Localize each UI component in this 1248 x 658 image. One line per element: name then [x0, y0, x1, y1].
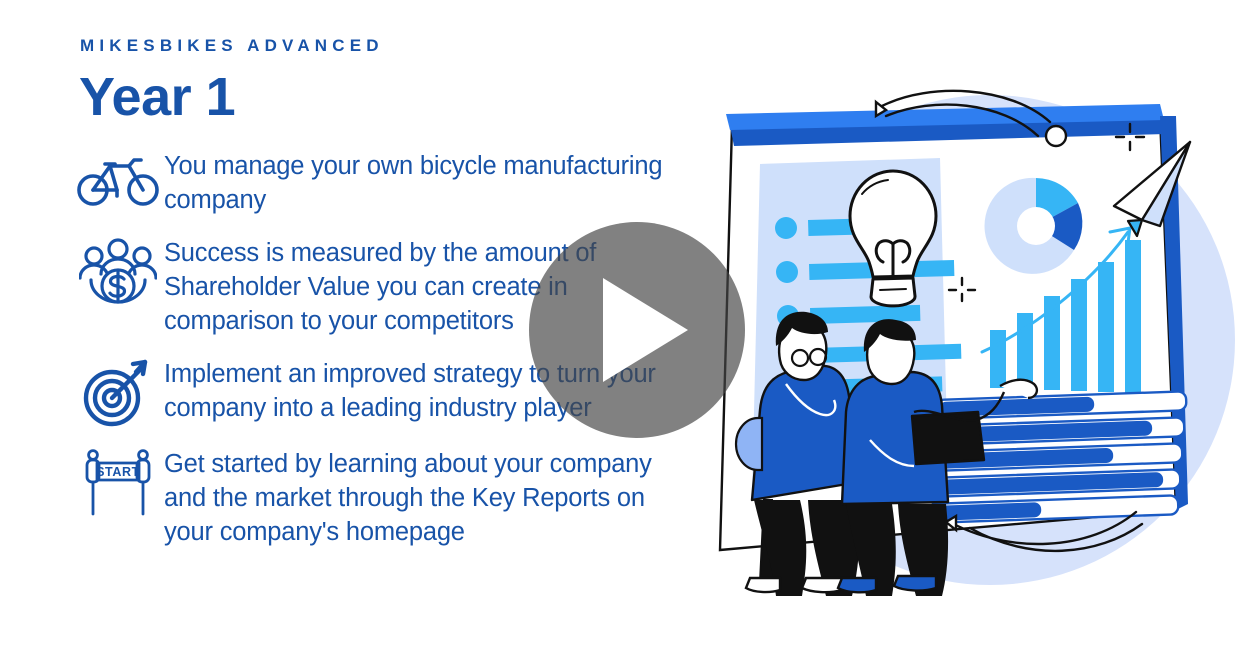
target-arrow-icon — [72, 356, 164, 428]
play-button[interactable] — [529, 222, 745, 438]
list-item: You manage your own bicycle manufacturin… — [72, 144, 692, 217]
list-item-label: You manage your own bicycle manufacturin… — [164, 144, 692, 217]
bar — [1125, 240, 1141, 393]
bar — [1071, 279, 1087, 391]
bicycle-icon — [72, 144, 164, 216]
bar — [990, 330, 1006, 388]
start-banner-icon: START — [72, 446, 164, 518]
shareholder-group-dollar-icon — [72, 235, 164, 307]
panel-bullet-dot — [775, 217, 797, 239]
play-icon — [603, 278, 688, 382]
bar — [1098, 262, 1114, 392]
page-title: Year 1 — [79, 66, 235, 128]
list-item: START Get started by learning about your… — [72, 446, 692, 549]
list-item-label: Get started by learning about your compa… — [164, 446, 692, 549]
panel-bullet-dot — [776, 261, 798, 283]
eyebrow-label: MIKESBIKES ADVANCED — [80, 36, 384, 56]
svg-text:START: START — [96, 465, 140, 479]
presentation-illustration — [690, 80, 1248, 600]
slide-root: MIKESBIKES ADVANCED Year 1 You manag — [0, 0, 1248, 658]
